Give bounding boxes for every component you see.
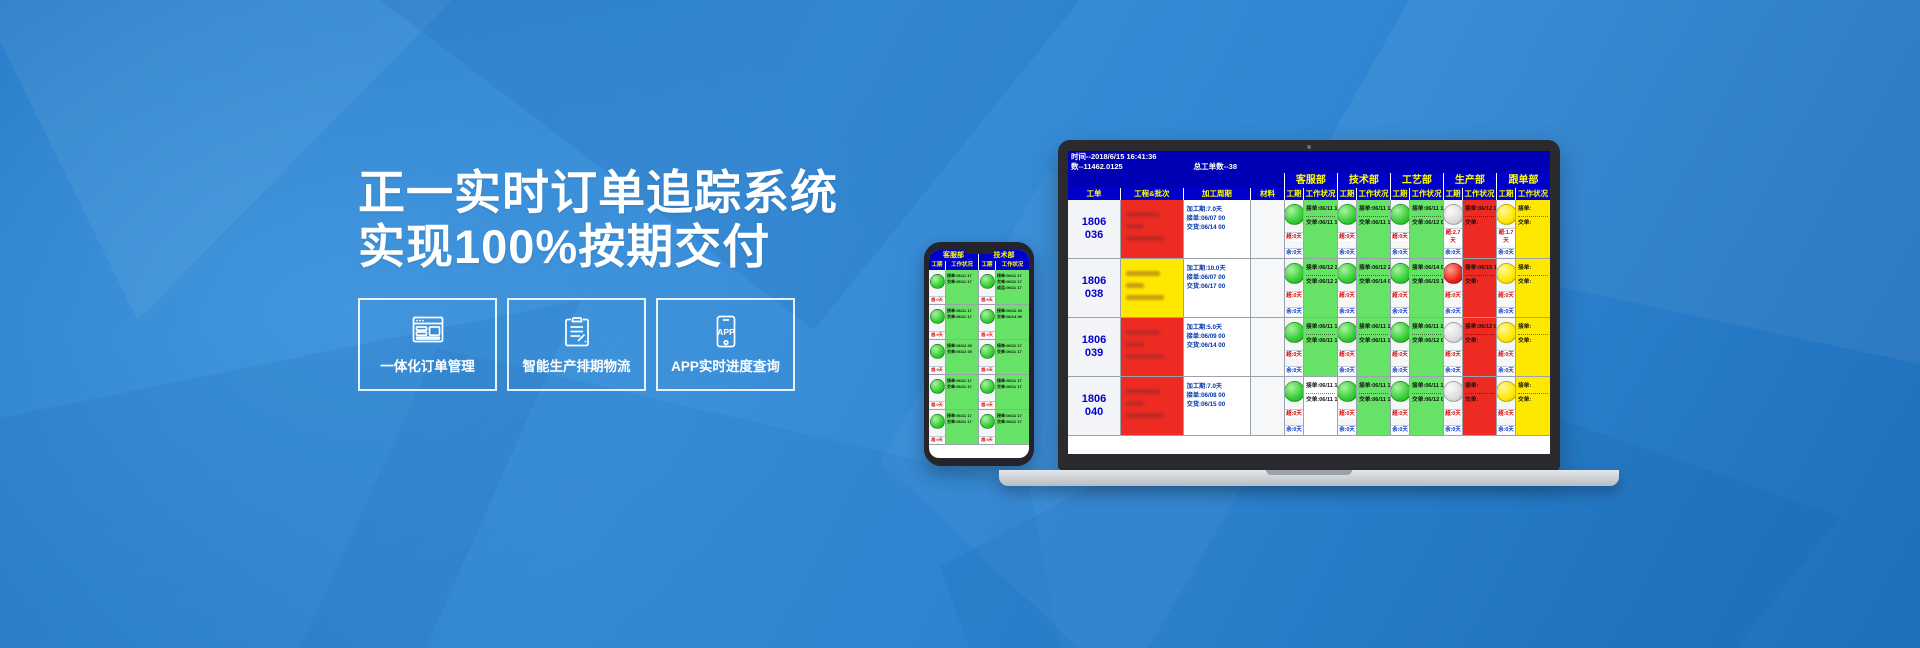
dept-0-period-cell[interactable]: 超:0天余:0天 [1285, 200, 1304, 258]
order-number-cell: 1806040 [1068, 377, 1121, 435]
material-cell [1251, 259, 1285, 317]
order-number-bottom: 039 [1085, 347, 1103, 360]
receive-time: 接单:06/11 17 [1359, 205, 1388, 214]
project-batch-cell [1121, 377, 1184, 435]
overdue-days: 超:0天 [1285, 232, 1303, 241]
status-dot-red [1444, 263, 1463, 284]
dept-0-period-cell[interactable]: 超:0天余:0天 [1285, 318, 1304, 376]
cycle-line-0: 加工期:7.0天 [1187, 382, 1248, 391]
cycle-line-1: 接单:06/07 00 [1187, 273, 1248, 282]
deliver-time: 交单: [1465, 219, 1494, 228]
status-dot-green [1391, 263, 1410, 284]
deliver-time: 交单:06/12 09 [1412, 337, 1441, 346]
overdue-days: 超:0天 [1391, 232, 1409, 241]
dept-header-2: 工艺部 [1391, 173, 1444, 188]
deliver-time: 交单:06/11 17 [1306, 219, 1335, 228]
deliver-time: 交单: [1465, 337, 1494, 346]
overdue-days: 超:0天 [929, 331, 945, 338]
cycle-line-2: 交货:06/15 00 [1187, 400, 1248, 409]
col-header-project: 工程&批次 [1121, 188, 1184, 200]
order-number-top: 1806 [1082, 275, 1106, 288]
finished-time: 成品:06/11 17 [997, 285, 1028, 291]
project-batch-cell [1121, 200, 1184, 258]
dept-2-period-cell[interactable]: 超:0天余:0天 [1391, 318, 1410, 376]
phone-table-row[interactable]: 超:0天接单:06/12 20交单:06/12 20超:0天接单:06/11 1… [929, 340, 1029, 375]
dept-0-status-cell[interactable]: 接单:06/11 17交单:06/11 17 [1304, 318, 1338, 376]
dept-4-period-cell[interactable]: 超:0天余:0天 [1497, 259, 1516, 317]
deliver-time: 交单:06/15 16 [1412, 278, 1441, 287]
status-dot-green [930, 414, 945, 429]
deliver-time: 交单:06/12 09 [1412, 219, 1441, 228]
overdue-days: 超:0天 [1444, 409, 1462, 418]
dept-2-period-cell[interactable]: 超:0天余:0天 [1391, 259, 1410, 317]
deliver-time: 交单:06/11 17 [997, 419, 1028, 425]
status-dot-gray [1444, 204, 1463, 225]
status-dot-green [930, 309, 945, 324]
overdue-days: 超:0天 [1338, 232, 1356, 241]
redacted-text [1126, 342, 1144, 347]
receive-time: 接单:06/11 17 [1359, 323, 1388, 332]
phone-dept-0-status-cell[interactable]: 接单:06/12 20交单:06/12 20 [946, 340, 979, 374]
status-dot-green [980, 309, 995, 324]
feature-card-app-progress[interactable]: APP APP实时进度查询 [656, 298, 795, 391]
dept-3-status-cell[interactable]: 接单:06/15 16交单: [1463, 259, 1497, 317]
redacted-text [1126, 271, 1160, 276]
phone-dept-1-status-cell[interactable]: 接单:06/11 17交单:06/11 17 [996, 410, 1029, 444]
deliver-time: 交单:06/11 17 [1359, 337, 1388, 346]
dept-1-period-cell[interactable]: 超:0天余:0天 [1338, 200, 1357, 258]
deliver-time: 交单:06/11 17 [1306, 396, 1335, 405]
processing-cycle-cell: 加工期:10.0天接单:06/07 00交货:06/17 00 [1184, 259, 1251, 317]
overdue-days: 超:0天 [929, 366, 945, 373]
overdue-days: 超:2.7天 [1444, 228, 1462, 245]
col-header-status-1: 工作状况 [1357, 188, 1391, 200]
erp-column-header-row: 工单 工程&批次 加工周期 材料 工期 工作状况 工期 工作状况 工期 工作状况… [1068, 188, 1550, 200]
phone-dept-1-period-cell[interactable]: 超:0天 [979, 375, 996, 409]
order-number-top: 1806 [1082, 216, 1106, 229]
order-number-top: 1806 [1082, 393, 1106, 406]
erp-topbar: 时间--2018/6/15 16:41:36 数--11462.0125 总工单… [1068, 151, 1550, 173]
divider [1412, 334, 1441, 335]
headline-line-2: 实现100%按期交付 [358, 220, 878, 274]
receive-time: 接单:06/11 17 [1412, 323, 1441, 332]
overdue-days: 超:0天 [979, 401, 995, 408]
phone-col-status-1: 工作状况 [996, 261, 1029, 270]
phone-dept-0-status-cell[interactable]: 接单:06/11 17交单:06/11 17 [946, 305, 979, 339]
dept-0-status-cell[interactable]: 接单:06/12 20交单:06/12 20 [1304, 259, 1338, 317]
banner-copy: 正一实时订单追踪系统 实现100%按期交付 [358, 166, 878, 391]
remaining-days: 余:0天 [1497, 425, 1515, 434]
divider [1465, 216, 1494, 217]
app-icon-text: APP [717, 327, 735, 337]
dept-2-status-cell[interactable]: 接单:06/11 17交单:06/12 09 [1410, 377, 1444, 435]
overdue-days: 超:0天 [929, 436, 945, 443]
overdue-days: 超:0天 [1338, 409, 1356, 418]
dept-spacer [1184, 173, 1251, 188]
status-dot-green [1285, 381, 1304, 402]
overdue-days: 超:1.7天 [1497, 228, 1515, 245]
deliver-time: 交单:06/11 17 [947, 419, 977, 425]
col-header-status-4: 工作状况 [1516, 188, 1550, 200]
deliver-time: 交单: [1518, 396, 1548, 405]
receive-time: 接单:06/15 16 [1465, 264, 1494, 273]
receive-time: 接单: [1518, 323, 1548, 332]
phone-col-period-1: 工期 [979, 261, 996, 270]
erp-table-row[interactable]: 1806039加工期:5.0天接单:06/09 00交货:06/14 00超:0… [1068, 318, 1550, 377]
phone-table-row[interactable]: 超:0天接单:06/11 17交单:06/11 17超:0天接单:06/11 1… [929, 410, 1029, 445]
deliver-time: 交单:06/11 17 [997, 349, 1028, 355]
overdue-days: 超:0天 [1444, 350, 1462, 359]
phone-dept-1-period-cell[interactable]: 超:0天 [979, 340, 996, 374]
deliver-time: 交单:06/11 17 [997, 384, 1028, 390]
divider [1359, 275, 1388, 276]
remaining-days: 余:0天 [1391, 366, 1409, 375]
overdue-days: 超:0天 [1391, 291, 1409, 300]
dept-1-status-cell[interactable]: 接单:06/11 17交单:06/11 17 [1357, 200, 1391, 258]
phone-col-period-0: 工期 [929, 261, 946, 270]
phone-table-row[interactable]: 超:0天接单:06/11 17交单:06/11 17超:0天接单:06/11 1… [929, 270, 1029, 305]
remaining-days: 余:0天 [1391, 425, 1409, 434]
overdue-days: 超:0天 [1497, 291, 1515, 300]
status-dot-green [1285, 204, 1304, 225]
overdue-days: 超:0天 [1444, 291, 1462, 300]
cycle-line-1: 接单:06/08 00 [1187, 391, 1248, 400]
status-dot-green [1285, 322, 1304, 343]
receive-time: 接单:06/14 06 [1412, 264, 1441, 273]
feature-card-production-scheduling[interactable]: 智能生产排期物流 [507, 298, 646, 391]
dept-3-status-cell[interactable]: 接单:06/12 09交单: [1463, 200, 1497, 258]
feature-list: 一体化订单管理 智能生产排期物流 [358, 298, 878, 391]
dept-3-period-cell[interactable]: 超:0天余:0天 [1444, 377, 1463, 435]
divider [1465, 334, 1494, 335]
overdue-days: 超:0天 [979, 436, 995, 443]
receive-time: 接单: [1518, 205, 1548, 214]
remaining-days: 余:0天 [1444, 366, 1462, 375]
col-header-order: 工单 [1068, 188, 1121, 200]
divider [1306, 393, 1335, 394]
phone-dept-1-status-cell[interactable]: 接单:06/11 17交单:06/11 17 [996, 340, 1029, 374]
overdue-days: 超:0天 [1285, 350, 1303, 359]
remaining-days: 余:0天 [1497, 307, 1515, 316]
remaining-days: 余:0天 [1285, 307, 1303, 316]
dept-4-status-cell[interactable]: 接单:交单: [1516, 318, 1550, 376]
dept-spacer [1121, 173, 1184, 188]
divider [1359, 334, 1388, 335]
project-batch-cell [1121, 259, 1184, 317]
receive-time: 接单: [1518, 264, 1548, 273]
feature-label: 一体化订单管理 [380, 355, 475, 375]
phone-table-body: 超:0天接单:06/11 17交单:06/11 17超:0天接单:06/11 1… [929, 270, 1029, 445]
divider [1359, 216, 1388, 217]
phone-dept-1-status-cell[interactable]: 接单:06/12 20交单:06/14 06 [996, 305, 1029, 339]
laptop-screen: 时间--2018/6/15 16:41:36 数--11462.0125 总工单… [1068, 151, 1550, 454]
feature-label: 智能生产排期物流 [523, 355, 631, 375]
status-dot-green [930, 379, 945, 394]
remaining-days: 余:0天 [1285, 366, 1303, 375]
order-number-cell: 1806036 [1068, 200, 1121, 258]
cycle-line-2: 交货:06/17 00 [1187, 282, 1248, 291]
status-dot-green [1391, 381, 1410, 402]
dept-3-period-cell[interactable]: 超:2.7天余:0天 [1444, 200, 1463, 258]
status-dot-green [1391, 322, 1410, 343]
feature-card-order-management[interactable]: 一体化订单管理 [358, 298, 497, 391]
status-dot-green [1338, 263, 1357, 284]
status-dot-green [930, 344, 945, 359]
dept-1-status-cell[interactable]: 接单:06/11 17交单:06/11 17 [1357, 377, 1391, 435]
divider [1465, 393, 1494, 394]
remaining-days: 余:0天 [1444, 248, 1462, 257]
processing-cycle-cell: 加工期:7.0天接单:06/08 00交货:06/15 00 [1184, 377, 1251, 435]
phone-dept-0-status-cell[interactable]: 接单:06/11 17交单:06/11 17 [946, 270, 979, 304]
redacted-text [1126, 389, 1160, 394]
deliver-time: 交单:06/11 17 [1306, 337, 1335, 346]
erp-counter: 数--11462.0125 [1071, 162, 1156, 172]
dept-header-0: 客服部 [1285, 173, 1338, 188]
dept-0-status-cell[interactable]: 接单:06/11 17交单:06/11 17 [1304, 377, 1338, 435]
col-header-status-0: 工作状况 [1304, 188, 1338, 200]
status-dot-green [980, 274, 995, 289]
headline-line-1: 正一实时订单追踪系统 [358, 166, 878, 220]
dashboard-icon [412, 314, 444, 348]
dept-0-period-cell[interactable]: 超:0天余:0天 [1285, 377, 1304, 435]
status-dot-yellow [1497, 263, 1516, 284]
phone-mockup: 客服部 技术部 工期 工作状况 工期 工作状况 超:0天接单:06/11 17交… [924, 242, 1034, 466]
phone-dept-0-period-cell[interactable]: 超:0天 [929, 410, 946, 444]
redacted-text [1126, 236, 1164, 241]
dept-4-status-cell[interactable]: 接单:交单: [1516, 259, 1550, 317]
redacted-text [1126, 295, 1164, 300]
col-header-period-0: 工期 [1285, 188, 1304, 200]
deliver-time: 交单:06/12 09 [1412, 396, 1441, 405]
remaining-days: 余:0天 [1497, 366, 1515, 375]
dept-header-3: 生产部 [1444, 173, 1497, 188]
divider [1306, 216, 1335, 217]
processing-cycle-cell: 加工期:5.0天接单:06/09 00交货:06/14 00 [1184, 318, 1251, 376]
col-header-material: 材料 [1251, 188, 1285, 200]
laptop-lid: 时间--2018/6/15 16:41:36 数--11462.0125 总工单… [1058, 140, 1560, 470]
erp-table-row[interactable]: 1806038加工期:10.0天接单:06/07 00交货:06/17 00超:… [1068, 259, 1550, 318]
remaining-days: 余:0天 [1338, 425, 1356, 434]
divider [1465, 275, 1494, 276]
dept-4-period-cell[interactable]: 超:1.7天余:0天 [1497, 200, 1516, 258]
status-dot-green [980, 414, 995, 429]
dept-4-period-cell[interactable]: 超:0天余:0天 [1497, 377, 1516, 435]
phone-dept-1-period-cell[interactable]: 超:0天 [979, 305, 996, 339]
divider [1518, 216, 1548, 217]
redacted-text [1126, 330, 1160, 335]
deliver-time: 交单:06/14 06 [1359, 278, 1388, 287]
dept-0-period-cell[interactable]: 超:0天余:0天 [1285, 259, 1304, 317]
dept-spacer [1068, 173, 1121, 188]
status-dot-yellow [1497, 322, 1516, 343]
divider [1412, 275, 1441, 276]
deliver-time: 交单:06/12 20 [947, 349, 977, 355]
divider [1306, 334, 1335, 335]
divider [1306, 275, 1335, 276]
erp-table-body: 1806036加工期:7.0天接单:06/07 00交货:06/14 00超:0… [1068, 200, 1550, 436]
receive-time: 接单:06/11 17 [1412, 205, 1441, 214]
dept-3-status-cell[interactable]: 接单:交单: [1463, 377, 1497, 435]
status-dot-gray [1444, 381, 1463, 402]
phone-dept-1-status-cell[interactable]: 接单:06/11 17交单:06/11 17成品:06/11 17 [996, 270, 1029, 304]
cycle-line-2: 交货:06/14 00 [1187, 223, 1248, 232]
remaining-days: 余:0天 [1338, 366, 1356, 375]
order-number-bottom: 036 [1085, 229, 1103, 242]
status-dot-gray [1444, 322, 1463, 343]
receive-time: 接单:06/11 17 [1306, 382, 1335, 391]
deliver-time: 交单:06/11 17 [1359, 396, 1388, 405]
status-dot-green [980, 344, 995, 359]
deliver-time: 交单: [1465, 396, 1494, 405]
erp-timestamp: 时间--2018/6/15 16:41:36 [1071, 152, 1156, 162]
material-cell [1251, 200, 1285, 258]
erp-total-orders: 总工单数--38 [1194, 162, 1547, 172]
phone-dept-0-period-cell[interactable]: 超:0天 [929, 375, 946, 409]
project-batch-cell [1121, 318, 1184, 376]
divider [1518, 275, 1548, 276]
laptop-base [999, 470, 1619, 486]
deliver-time: 交单:06/11 17 [1359, 219, 1388, 228]
remaining-days: 余:0天 [1391, 307, 1409, 316]
col-header-status-3: 工作状况 [1463, 188, 1497, 200]
phone-dept-0-status-cell[interactable]: 接单:06/11 17交单:06/11 17 [946, 410, 979, 444]
col-header-period-4: 工期 [1497, 188, 1516, 200]
deliver-time: 交单:06/14 06 [997, 314, 1028, 320]
overdue-days: 超:0天 [979, 296, 995, 303]
processing-cycle-cell: 加工期:7.0天接单:06/07 00交货:06/14 00 [1184, 200, 1251, 258]
receive-time: 接单:06/11 17 [1359, 382, 1388, 391]
deliver-time: 交单:06/11 17 [947, 314, 977, 320]
receive-time: 接单:06/11 17 [1306, 323, 1335, 332]
status-dot-green [930, 274, 945, 289]
phone-dept-0-status-cell[interactable]: 接单:06/11 17交单:06/11 17 [946, 375, 979, 409]
status-dot-green [980, 379, 995, 394]
phone-column-header-row: 工期 工作状况 工期 工作状况 [929, 261, 1029, 270]
divider [1518, 393, 1548, 394]
receive-time: 接单:06/12 20 [1306, 264, 1335, 273]
dept-4-status-cell[interactable]: 接单:交单: [1516, 377, 1550, 435]
receive-time: 接单:06/12 20 [1359, 264, 1388, 273]
remaining-days: 余:0天 [1391, 248, 1409, 257]
dept-3-period-cell[interactable]: 超:0天余:0天 [1444, 259, 1463, 317]
receive-time: 接单: [1465, 382, 1494, 391]
col-header-period-1: 工期 [1338, 188, 1357, 200]
dept-2-status-cell[interactable]: 接单:06/14 06交单:06/15 16 [1410, 259, 1444, 317]
col-header-status-2: 工作状况 [1410, 188, 1444, 200]
redacted-text [1126, 401, 1144, 406]
divider [1359, 393, 1388, 394]
redacted-text [1126, 283, 1144, 288]
order-number-bottom: 038 [1085, 288, 1103, 301]
overdue-days: 超:0天 [1391, 409, 1409, 418]
phone-table-row[interactable]: 超:0天接单:06/11 17交单:06/11 17超:0天接单:06/12 2… [929, 305, 1029, 340]
dept-1-period-cell[interactable]: 超:0天余:0天 [1338, 377, 1357, 435]
dept-4-status-cell[interactable]: 接单:交单: [1516, 200, 1550, 258]
remaining-days: 余:0天 [1497, 248, 1515, 257]
order-number-cell: 1806039 [1068, 318, 1121, 376]
erp-department-header-row: 客服部 技术部 工艺部 生产部 跟单部 [1068, 173, 1550, 188]
status-dot-green [1391, 204, 1410, 225]
cycle-line-2: 交货:06/14 00 [1187, 341, 1248, 350]
overdue-days: 超:0天 [1338, 350, 1356, 359]
remaining-days: 余:0天 [1444, 425, 1462, 434]
order-number-cell: 1806038 [1068, 259, 1121, 317]
status-dot-yellow [1497, 381, 1516, 402]
col-header-period-2: 工期 [1391, 188, 1410, 200]
remaining-days: 余:0天 [1338, 248, 1356, 257]
laptop-mockup: 时间--2018/6/15 16:41:36 数--11462.0125 总工单… [1058, 140, 1619, 486]
phone-dept-0-period-cell[interactable]: 超:0天 [929, 340, 946, 374]
status-dot-yellow [1497, 204, 1516, 225]
dept-3-period-cell[interactable]: 超:0天余:0天 [1444, 318, 1463, 376]
remaining-days: 余:0天 [1285, 248, 1303, 257]
cycle-line-0: 加工期:10.0天 [1187, 264, 1248, 273]
deliver-time: 交单:06/11 17 [947, 279, 977, 285]
phone-dept-0-period-cell[interactable]: 超:0天 [929, 270, 946, 304]
dept-1-period-cell[interactable]: 超:0天余:0天 [1338, 259, 1357, 317]
overdue-days: 超:0天 [1497, 350, 1515, 359]
overdue-days: 超:0天 [1338, 291, 1356, 300]
overdue-days: 超:0天 [979, 366, 995, 373]
redacted-text [1126, 413, 1164, 418]
cycle-line-1: 接单:06/09 00 [1187, 332, 1248, 341]
promo-banner: 正一实时订单追踪系统 实现100%按期交付 [0, 0, 1920, 648]
dept-1-status-cell[interactable]: 接单:06/12 20交单:06/14 06 [1357, 259, 1391, 317]
dept-2-status-cell[interactable]: 接单:06/11 17交单:06/12 09 [1410, 318, 1444, 376]
phone-table-row[interactable]: 超:0天接单:06/11 17交单:06/11 17超:0天接单:06/11 1… [929, 375, 1029, 410]
overdue-days: 超:0天 [1391, 350, 1409, 359]
erp-table-row[interactable]: 1806036加工期:7.0天接单:06/07 00交货:06/14 00超:0… [1068, 200, 1550, 259]
overdue-days: 超:0天 [979, 331, 995, 338]
redacted-text [1126, 224, 1144, 229]
dept-2-status-cell[interactable]: 接单:06/11 17交单:06/12 09 [1410, 200, 1444, 258]
dept-2-period-cell[interactable]: 超:0天余:0天 [1391, 377, 1410, 435]
mobile-app-icon: APP [714, 314, 738, 348]
deliver-time: 交单: [1465, 278, 1494, 287]
dept-3-status-cell[interactable]: 接单:06/12 09交单: [1463, 318, 1497, 376]
receive-time: 接单:06/12 09 [1465, 205, 1494, 214]
phone-department-header-row: 客服部 技术部 [929, 250, 1029, 261]
receive-time: 接单:06/11 17 [1412, 382, 1441, 391]
cycle-line-0: 加工期:7.0天 [1187, 205, 1248, 214]
phone-screen: 客服部 技术部 工期 工作状况 工期 工作状况 超:0天接单:06/11 17交… [929, 250, 1029, 458]
dept-1-status-cell[interactable]: 接单:06/11 17交单:06/11 17 [1357, 318, 1391, 376]
remaining-days: 余:0天 [1338, 307, 1356, 316]
deliver-time: 交单: [1518, 278, 1548, 287]
phone-dept-0-period-cell[interactable]: 超:0天 [929, 305, 946, 339]
divider [1412, 216, 1441, 217]
erp-table-row[interactable]: 1806040加工期:7.0天接单:06/08 00交货:06/15 00超:0… [1068, 377, 1550, 436]
overdue-days: 超:0天 [1285, 409, 1303, 418]
dept-0-status-cell[interactable]: 接单:06/11 17交单:06/11 17 [1304, 200, 1338, 258]
erp-topbar-left: 时间--2018/6/15 16:41:36 数--11462.0125 [1071, 152, 1156, 172]
receive-time: 接单: [1518, 382, 1548, 391]
phone-col-status-0: 工作状况 [946, 261, 979, 270]
phone-dept-1-period-cell[interactable]: 超:0天 [979, 410, 996, 444]
col-header-cycle: 加工周期 [1184, 188, 1251, 200]
redacted-text [1126, 212, 1160, 217]
overdue-days: 超:0天 [929, 401, 945, 408]
dept-spacer [1251, 173, 1285, 188]
dept-2-period-cell[interactable]: 超:0天余:0天 [1391, 200, 1410, 258]
dept-1-period-cell[interactable]: 超:0天余:0天 [1338, 318, 1357, 376]
phone-dept-1: 技术部 [979, 250, 1029, 261]
col-header-period-3: 工期 [1444, 188, 1463, 200]
phone-dept-1-period-cell[interactable]: 超:0天 [979, 270, 996, 304]
phone-dept-1-status-cell[interactable]: 接单:06/11 17交单:06/11 17 [996, 375, 1029, 409]
dept-4-period-cell[interactable]: 超:0天余:0天 [1497, 318, 1516, 376]
deliver-time: 交单:06/12 20 [1306, 278, 1335, 287]
